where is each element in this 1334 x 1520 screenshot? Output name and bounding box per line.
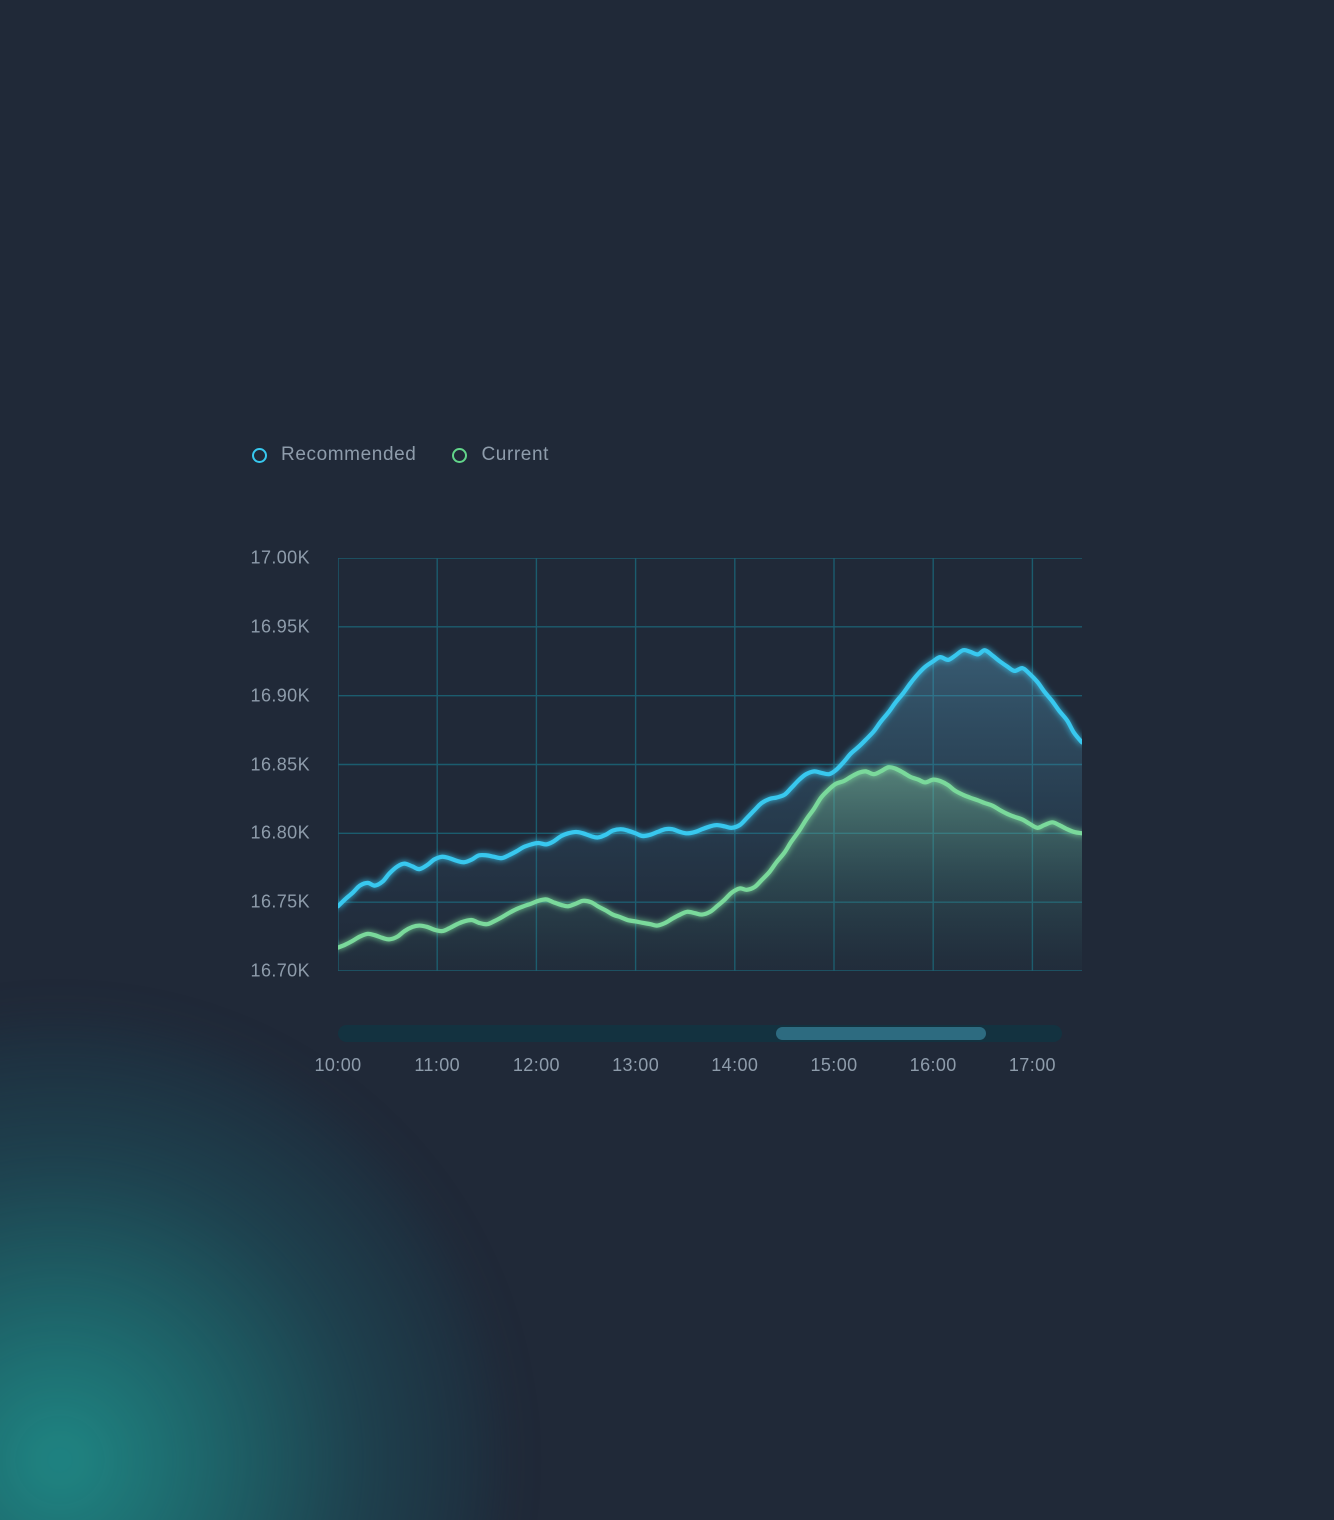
timeseries-chart-widget: Recommended Current 17.00K16.95K16.90K16… — [0, 0, 1334, 1520]
chart-legend: Recommended Current — [252, 444, 549, 466]
y-axis-tick-label: 16.70K — [251, 961, 310, 982]
legend-item-current[interactable]: Current — [452, 444, 549, 466]
x-axis-tick-label: 17:00 — [1009, 1055, 1056, 1076]
x-axis-tick-label: 11:00 — [414, 1055, 460, 1076]
range-scrollbar-thumb[interactable] — [776, 1027, 986, 1040]
chart-plot-area[interactable] — [338, 558, 1082, 971]
legend-item-recommended[interactable]: Recommended — [252, 444, 416, 466]
chart-svg — [338, 558, 1082, 971]
x-axis-tick-label: 10:00 — [314, 1055, 361, 1076]
y-axis-tick-label: 16.85K — [251, 754, 310, 775]
x-axis-tick-label: 16:00 — [910, 1055, 957, 1076]
circle-outline-icon — [252, 448, 267, 463]
y-axis-tick-label: 17.00K — [251, 548, 310, 569]
y-axis-tick-label: 16.80K — [251, 823, 310, 844]
y-axis-tick-label: 16.95K — [251, 616, 310, 637]
x-axis-tick-label: 14:00 — [711, 1055, 758, 1076]
circle-outline-icon — [452, 448, 467, 463]
legend-label-recommended: Recommended — [281, 444, 416, 466]
x-axis-tick-labels: 10:0011:0012:0013:0014:0015:0016:0017:00 — [338, 1055, 1082, 1081]
legend-label-current: Current — [481, 444, 549, 466]
x-axis-tick-label: 12:00 — [513, 1055, 560, 1076]
y-axis-tick-label: 16.75K — [251, 892, 310, 913]
y-axis-tick-label: 16.90K — [251, 685, 310, 706]
chart-area-fills — [338, 650, 1082, 971]
x-axis-tick-label: 13:00 — [612, 1055, 659, 1076]
x-axis-tick-label: 15:00 — [810, 1055, 857, 1076]
horizontal-range-scrollbar[interactable] — [338, 1025, 1062, 1042]
y-axis-tick-labels: 17.00K16.95K16.90K16.85K16.80K16.75K16.7… — [248, 548, 310, 981]
